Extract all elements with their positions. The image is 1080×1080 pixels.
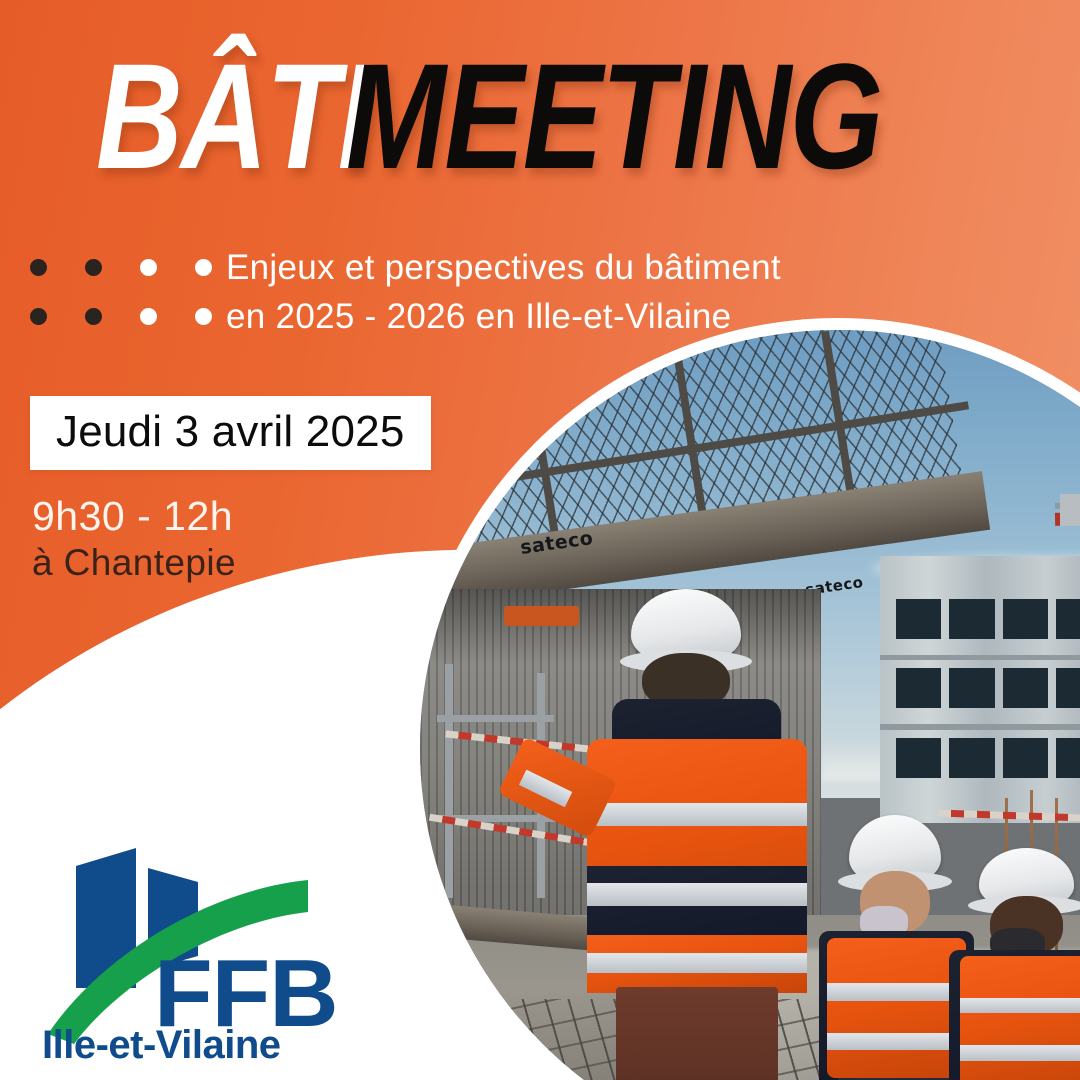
building-window [1056,599,1080,639]
building-window [896,599,941,639]
ffb-department: Ille-et-Vilaine [42,1024,281,1066]
office-building [880,556,1080,824]
building-window [949,668,994,708]
bullet-dot-light [140,308,157,325]
building-window [949,599,994,639]
reflective-stripe [587,803,808,826]
subtitle-row-1: Enjeux et perspectives du bâtiment [0,243,781,292]
subtitle-line-1: Enjeux et perspectives du bâtiment [226,248,781,288]
event-place-text: à Chantepie [32,540,236,586]
building-window [1003,599,1048,639]
bullet-dot-light [195,259,212,276]
event-time-text: 9h30 - 12h [32,492,233,540]
building-band [880,724,1080,729]
building-window [1056,668,1080,708]
photo-scene: sateco sateco [420,330,1080,1080]
building-window [1056,738,1080,778]
hi-vis-vest [960,956,1080,1080]
title-part-bati: BÂTI [96,36,370,196]
worker-right [938,848,1080,1080]
scaffold-post [445,664,453,898]
event-date-badge: Jeudi 3 avril 2025 [30,396,431,470]
poster-canvas: BÂTIMEETING Enjeux et perspectives du bâ… [0,0,1080,1080]
bullet-dot-dark [30,259,47,276]
reflective-stripe [587,953,808,973]
ffb-logo: FFB Ille-et-Vilaine [40,838,350,1070]
building-window [1003,668,1048,708]
bullet-dot-light [140,259,157,276]
reflective-stripe [960,1045,1080,1061]
crane-counterweight [1060,494,1080,526]
event-date-text: Jeudi 3 avril 2025 [56,406,405,458]
building-window [896,668,941,708]
page-title: BÂTIMEETING [96,36,1046,196]
bullet-dot-dark [85,259,102,276]
bullet-dot-dark [85,308,102,325]
bullet-dot-dark [30,308,47,325]
reflective-stripe [960,998,1080,1014]
building-band [880,655,1080,660]
trousers [616,987,778,1080]
building-window [949,738,994,778]
title-part-meeting: MEETING [346,36,881,196]
subtitle-block: Enjeux et perspectives du bâtiment en 20… [0,243,781,341]
building-window [896,738,941,778]
bullet-dot-light [195,308,212,325]
reflective-stripe [587,883,808,906]
building-window [1003,738,1048,778]
construction-site-photo: sateco sateco [420,330,1080,1080]
